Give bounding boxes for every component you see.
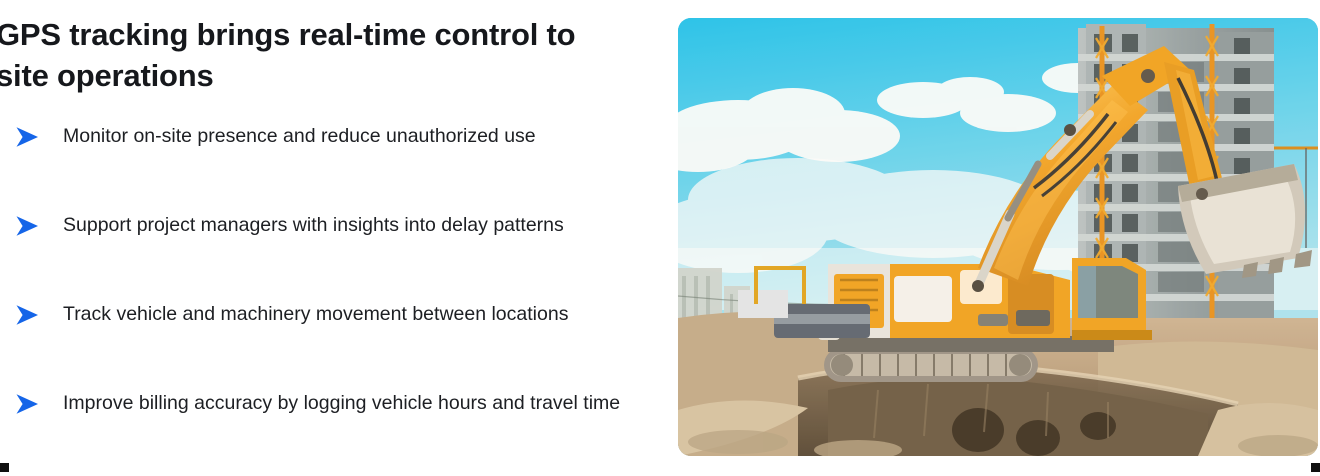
construction-site-photo — [678, 18, 1318, 456]
list-item: Track vehicle and machinery movement bet… — [0, 300, 630, 356]
arrow-right-icon — [15, 215, 40, 237]
list-item-label: Monitor on-site presence and reduce unau… — [63, 122, 630, 151]
arrow-right-icon — [15, 126, 40, 148]
arrow-right-icon — [15, 393, 40, 415]
slide-canvas: GPS tracking brings real-time control to… — [0, 0, 1320, 476]
list-item: Monitor on-site presence and reduce unau… — [0, 122, 630, 178]
text-column: GPS tracking brings real-time control to… — [0, 0, 640, 476]
page-title: GPS tracking brings real-time control to… — [0, 14, 616, 96]
benefit-list: Monitor on-site presence and reduce unau… — [0, 122, 630, 445]
arrow-right-icon — [15, 304, 40, 326]
handle-bottom-left[interactable] — [0, 463, 9, 472]
list-item-label: Support project managers with insights i… — [63, 211, 630, 240]
list-item-label: Improve billing accuracy by logging vehi… — [63, 389, 630, 418]
list-item: Support project managers with insights i… — [0, 211, 630, 267]
list-item: Improve billing accuracy by logging vehi… — [0, 389, 630, 445]
list-item-label: Track vehicle and machinery movement bet… — [63, 300, 630, 329]
handle-bottom-right[interactable] — [1311, 463, 1320, 472]
